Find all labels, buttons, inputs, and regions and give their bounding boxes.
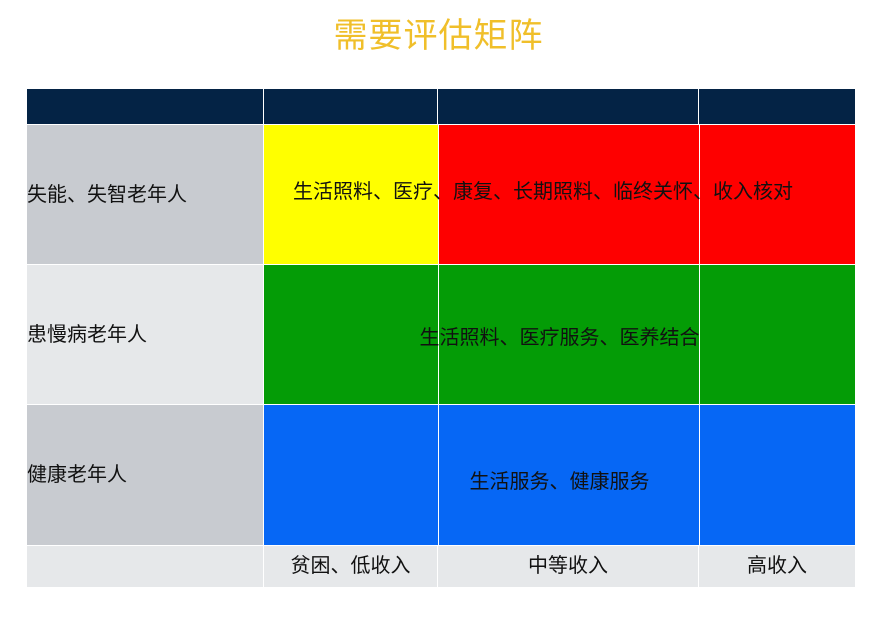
service-cell-segment xyxy=(264,125,438,264)
footer-cell-poor: 贫困、低收入 xyxy=(264,545,438,587)
service-cell-segment xyxy=(699,125,856,264)
category-label-healthy-elderly: 健康老年人 xyxy=(27,405,264,545)
column-separator xyxy=(699,405,700,544)
footer-cell-middle: 中等收入 xyxy=(438,545,699,587)
category-label-disabled-elderly: 失能、失智老年人 xyxy=(27,125,264,265)
table-footer-row: 贫困、低收入 中等收入 高收入 xyxy=(27,545,856,587)
header-cell-high xyxy=(699,89,856,125)
service-cell-healthy-elderly: 生活服务、健康服务 xyxy=(264,405,856,545)
footer-cell-high: 高收入 xyxy=(699,545,856,587)
column-separator xyxy=(438,405,439,544)
service-text-healthy-elderly: 生活服务、健康服务 xyxy=(264,467,855,497)
service-cell-chronic-elderly: 生活照料、医疗服务、医养结合 xyxy=(264,265,856,405)
table-row: 健康老年人 生活服务、健康服务 xyxy=(27,405,856,545)
column-separator xyxy=(699,265,700,404)
header-cell-middle xyxy=(438,89,699,125)
service-cell-disabled-elderly: 生活照料、医疗、康复、长期照料、临终关怀、收入核对 xyxy=(264,125,856,265)
table-row: 患慢病老年人 生活照料、医疗服务、医养结合 xyxy=(27,265,856,405)
needs-assessment-matrix: 失能、失智老年人 生活照料、医疗、康复、长期照料、临终关怀、收入核对 患慢病老年… xyxy=(26,88,856,588)
table-header-row xyxy=(27,89,856,125)
header-cell-poor xyxy=(264,89,438,125)
table-row: 失能、失智老年人 生活照料、医疗、康复、长期照料、临终关怀、收入核对 xyxy=(27,125,856,265)
service-text-chronic-elderly: 生活照料、医疗服务、医养结合 xyxy=(264,323,855,353)
page-title: 需要评估矩阵 xyxy=(0,14,877,58)
column-separator xyxy=(438,265,439,404)
category-label-chronic-elderly: 患慢病老年人 xyxy=(27,265,264,405)
footer-cell-corner xyxy=(27,545,264,587)
service-cell-segment xyxy=(438,125,699,264)
header-cell-corner xyxy=(27,89,264,125)
